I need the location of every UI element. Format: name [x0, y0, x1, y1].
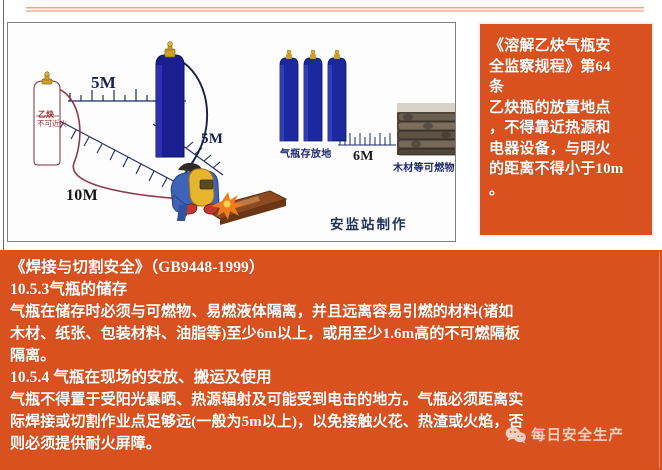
- label-distance-5m-horizontal: 5M: [91, 73, 116, 93]
- regulation-quote-panel: 《溶解乙炔气瓶安 全监察规程》第64 条 乙炔瓶的放置地点 ，不得靠近热源和 电…: [478, 22, 654, 237]
- label-storage-area: 气瓶存放地: [280, 145, 332, 160]
- clause-body-line: 气瓶不得置于受阳光暴晒、热源辐射及可能受到电击的地方。气瓶必须距离实: [10, 389, 654, 411]
- welder-worker-graphic: [171, 163, 286, 225]
- illustration-graphics: [8, 23, 456, 242]
- label-combustible-wood: 木材等可燃物: [393, 159, 455, 174]
- label-distance-10m: 10M: [66, 187, 98, 205]
- quote-line: 条: [489, 77, 645, 98]
- ruler-6m: [338, 133, 396, 145]
- top-decorative-rule: [26, 7, 644, 12]
- label-distance-5m-diagonal: 5M: [201, 131, 223, 148]
- quote-line: 全监察规程》第64: [489, 57, 645, 78]
- standard-title: 《焊接与切割安全》（GB9448-1999）: [10, 257, 654, 279]
- slide-root: 5M 5M 10M 6M 气瓶存放地 木材等可燃物 安监站制作 乙炔 不可近火 …: [0, 0, 662, 470]
- quote-line: 乙炔瓶的放置地点: [489, 98, 645, 119]
- left-border-line: [3, 0, 4, 253]
- right-hairline: [659, 252, 660, 468]
- quote-line: 电器设备，与明火: [489, 139, 645, 160]
- clause-body-line: 隔离。: [10, 345, 654, 367]
- clause-heading-10-5-3: 10.5.3气瓶的储存: [10, 279, 654, 301]
- label-distance-6m: 6M: [353, 149, 374, 165]
- quote-line: ，不得靠近热源和: [489, 118, 645, 139]
- quote-line: 的距离不得小于10m: [489, 159, 645, 180]
- clause-body-line: 际焊接或切割作业点足够远(一般为5m以上)，以免接触火花、热渣或火焰，否: [10, 411, 654, 433]
- clause-body-line: 气瓶在储存时必须与可燃物、易燃液体隔离，并且远离容易引燃的材料(诸如: [10, 301, 654, 323]
- safety-distance-illustration: 5M 5M 10M 6M 气瓶存放地 木材等可燃物 安监站制作 乙炔 不可近火: [7, 22, 456, 242]
- clause-body-line: 木材、纸张、包装材料、油脂等)至少6m以上，或用至少1.6m高的不可燃隔板: [10, 323, 654, 345]
- quote-line: 。: [489, 180, 645, 201]
- wood-pile-graphic: [397, 103, 456, 155]
- storage-cylinders-graphic: [280, 50, 346, 141]
- clause-body-line: 则必须提供耐火屏障。: [10, 433, 654, 455]
- standard-text-panel: 《焊接与切割安全》（GB9448-1999） 10.5.3气瓶的储存 气瓶在储存…: [0, 250, 662, 470]
- clause-heading-10-5-4: 10.5.4 气瓶在现场的安放、搬运及使用: [10, 367, 654, 389]
- oxygen-cylinder-graphic: [156, 42, 184, 157]
- quote-line: 《溶解乙炔气瓶安: [489, 36, 645, 57]
- acetylene-cylinder-warning-text: 不可近火: [37, 119, 53, 129]
- label-producer-credit: 安监站制作: [330, 213, 408, 233]
